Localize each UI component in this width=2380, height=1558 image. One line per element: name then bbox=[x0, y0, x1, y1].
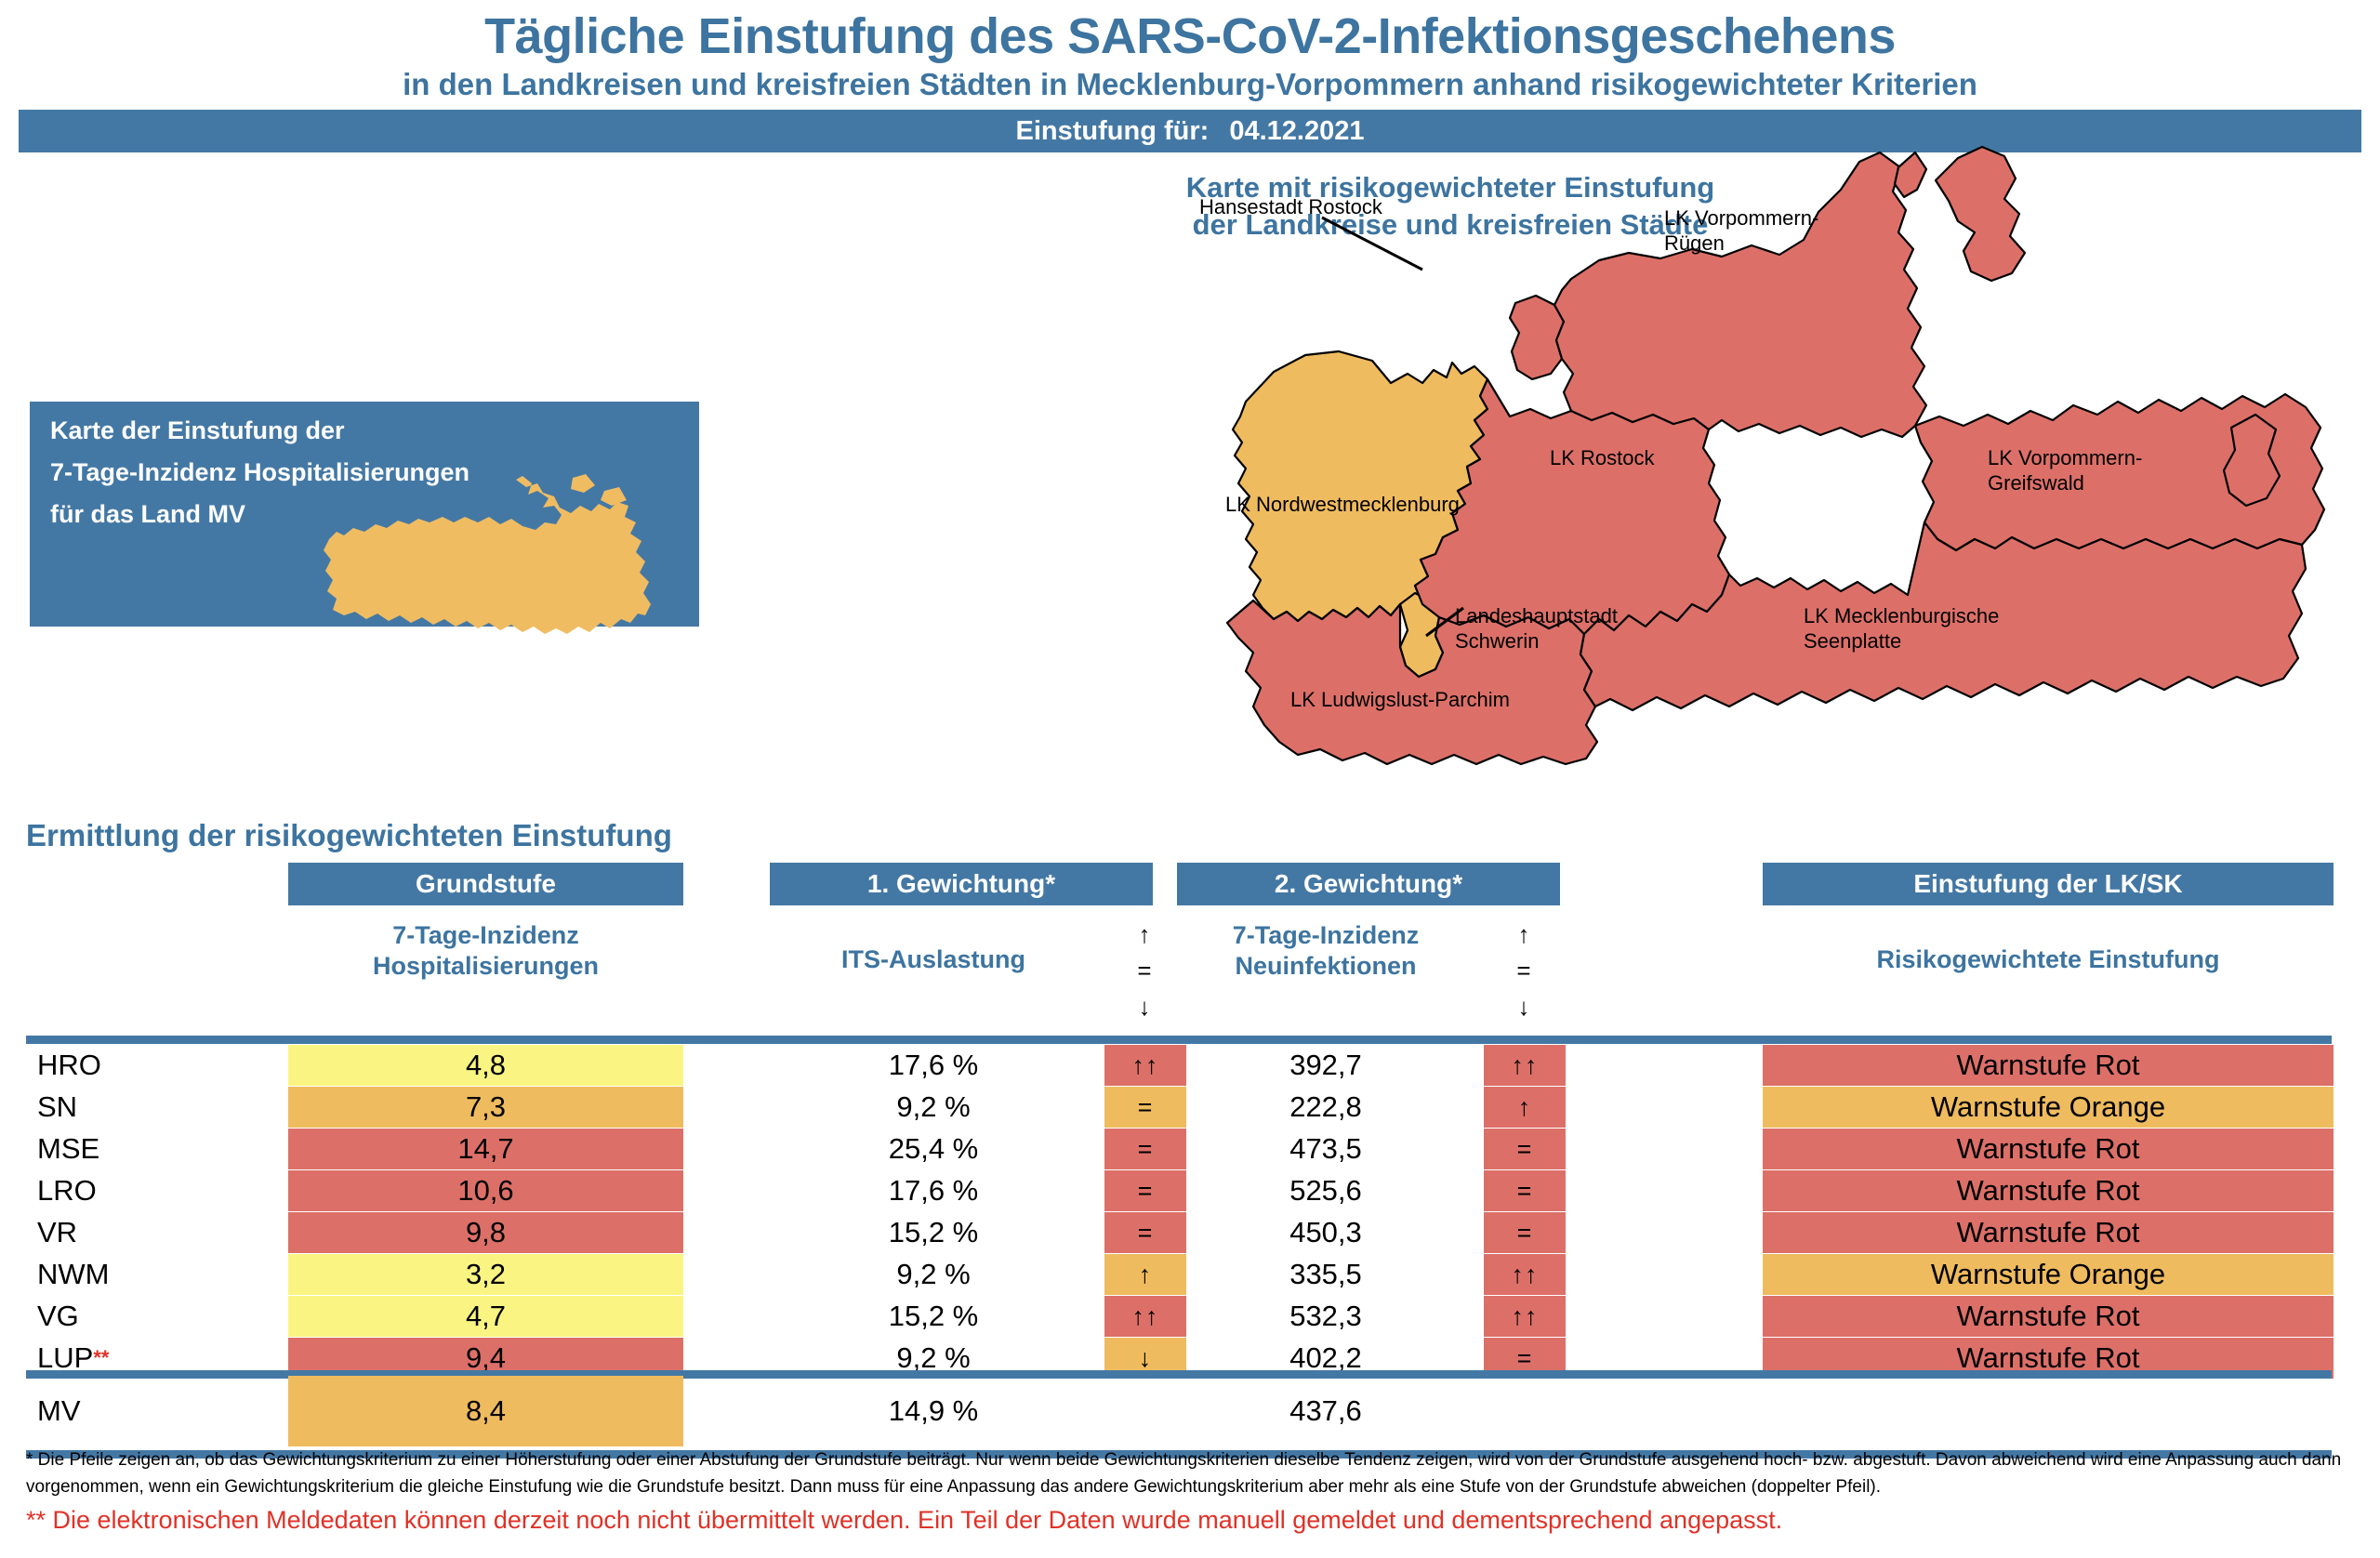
cell-hospitalisation-nwm: 3,2 bbox=[288, 1254, 683, 1295]
map-island-usedom bbox=[2224, 415, 2280, 506]
map-label-lk-mecklenburgische-seenplatte: LK MecklenburgischeSeenplatte bbox=[1804, 604, 1999, 654]
subheader-risikogewichtete-einstufung: Risikogewichtete Einstufung bbox=[1763, 944, 2334, 975]
footnote-single-star: * Die Pfeile zeigen an, ob das Gewichtun… bbox=[26, 1446, 2350, 1501]
cell-incidence-lro: 525,6 bbox=[1177, 1170, 1474, 1211]
row-code-vg: VG bbox=[37, 1296, 79, 1337]
date-label: Einstufung für: bbox=[1016, 116, 1210, 147]
mv-state-mini-map bbox=[279, 474, 669, 641]
cell-incidence-vg: 532,3 bbox=[1177, 1296, 1474, 1337]
classification-table: Grundstufe 1. Gewichtung* 2. Gewichtung*… bbox=[0, 863, 2380, 1439]
cell-warnstufe-mse: Warnstufe Rot bbox=[1763, 1129, 2334, 1169]
page-title: Tägliche Einstufung des SARS-CoV-2-Infek… bbox=[0, 7, 2380, 65]
map-label-lk-vorpommern-ruegen: LK Vorpommern-Rügen bbox=[1664, 206, 1818, 257]
cell-hospitalisation-hro: 4,8 bbox=[288, 1045, 683, 1086]
row-code-vr: VR bbox=[37, 1212, 77, 1253]
row-code-nwm: NWM bbox=[37, 1254, 109, 1295]
page-subtitle: in den Landkreisen und kreisfreien Städt… bbox=[0, 67, 2380, 102]
arrow-gewichtung2-mse: = bbox=[1484, 1129, 1566, 1169]
footnote-double-star: ** Die elektronischen Meldedaten können … bbox=[26, 1506, 2350, 1535]
leader-line-sn bbox=[1424, 604, 1471, 641]
arrow-gewichtung2-hro: ↑↑ bbox=[1484, 1045, 1566, 1086]
cell-warnstufe-nwm: Warnstufe Orange bbox=[1763, 1254, 2334, 1295]
arrow-gewichtung1-sn: = bbox=[1104, 1087, 1186, 1128]
cell-incidence-vr: 450,3 bbox=[1177, 1212, 1474, 1253]
subheader-its-auslastung: ITS-Auslastung bbox=[770, 944, 1097, 975]
summary-hospitalisation-value: 8,4 bbox=[288, 1376, 683, 1446]
cell-incidence-nwm: 335,5 bbox=[1177, 1254, 1474, 1295]
section-title: Ermittlung der risikogewichteten Einstuf… bbox=[26, 818, 672, 853]
cell-incidence-hro: 392,7 bbox=[1177, 1045, 1474, 1086]
map-label-landeshauptstadt-schwerin: LandeshauptstadtSchwerin bbox=[1455, 604, 1618, 654]
row-footnote-marker: ** bbox=[93, 1346, 109, 1370]
map-region-vr bbox=[1554, 152, 1926, 437]
cell-hospitalisation-vg: 4,7 bbox=[288, 1296, 683, 1337]
cell-its-vg: 15,2 % bbox=[770, 1296, 1097, 1337]
arrow-key-gewichtung-2: ↑=↓ bbox=[1482, 917, 1566, 1025]
cell-incidence-mse: 473,5 bbox=[1177, 1129, 1474, 1169]
cell-hospitalisation-vr: 9,8 bbox=[288, 1212, 683, 1253]
map-island-ruegen bbox=[1936, 147, 2025, 281]
cell-incidence-sn: 222,8 bbox=[1177, 1087, 1474, 1128]
cell-warnstufe-hro: Warnstufe Rot bbox=[1763, 1045, 2334, 1086]
subheader-neuinfektionen: 7-Tage-InzidenzNeuinfektionen bbox=[1177, 920, 1474, 982]
map-island-hiddensee bbox=[1895, 152, 1926, 197]
cell-hospitalisation-sn: 7,3 bbox=[288, 1087, 683, 1128]
cell-hospitalisation-mse: 14,7 bbox=[288, 1129, 683, 1169]
summary-incidence-value: 437,6 bbox=[1177, 1391, 1474, 1432]
row-code-hro: HRO bbox=[37, 1045, 101, 1086]
row-code-mse: MSE bbox=[37, 1129, 99, 1169]
cell-its-nwm: 9,2 % bbox=[770, 1254, 1097, 1295]
arrow-gewichtung2-lro: = bbox=[1484, 1170, 1566, 1211]
arrow-gewichtung1-vr: = bbox=[1104, 1212, 1186, 1253]
cell-warnstufe-vg: Warnstufe Rot bbox=[1763, 1296, 2334, 1337]
cell-warnstufe-sn: Warnstufe Orange bbox=[1763, 1087, 2334, 1128]
table-rule-top bbox=[26, 1036, 2332, 1044]
column-header-gewichtung-1: 1. Gewichtung* bbox=[770, 863, 1153, 905]
arrow-gewichtung2-nwm: ↑↑ bbox=[1484, 1254, 1566, 1295]
cell-hospitalisation-lro: 10,6 bbox=[288, 1170, 683, 1211]
row-code-lro: LRO bbox=[37, 1170, 97, 1211]
cell-its-lro: 17,6 % bbox=[770, 1170, 1097, 1211]
arrow-gewichtung2-vg: ↑↑ bbox=[1484, 1296, 1566, 1337]
arrow-gewichtung1-hro: ↑↑ bbox=[1104, 1045, 1186, 1086]
arrow-gewichtung2-vr: = bbox=[1484, 1212, 1566, 1253]
map-label-lk-rostock: LK Rostock bbox=[1550, 446, 1655, 471]
map-label-lk-nordwestmecklenburg: LK Nordwestmecklenburg bbox=[1225, 493, 1460, 518]
leader-line-hro bbox=[1320, 216, 1441, 281]
cell-its-sn: 9,2 % bbox=[770, 1087, 1097, 1128]
cell-warnstufe-lro: Warnstufe Rot bbox=[1763, 1170, 2334, 1211]
summary-row-code: MV bbox=[37, 1391, 81, 1432]
arrow-gewichtung1-mse: = bbox=[1104, 1129, 1186, 1169]
map-label-lk-ludwigslust-parchim: LK Ludwigslust-Parchim bbox=[1290, 688, 1510, 713]
arrow-gewichtung1-lro: = bbox=[1104, 1170, 1186, 1211]
map-label-lk-vorpommern-greifswald: LK Vorpommern-Greifswald bbox=[1988, 446, 2142, 496]
row-code-sn: SN bbox=[37, 1087, 77, 1128]
cell-warnstufe-vr: Warnstufe Rot bbox=[1763, 1212, 2334, 1253]
column-header-gewichtung-2: 2. Gewichtung* bbox=[1177, 863, 1560, 905]
summary-its-value: 14,9 % bbox=[770, 1391, 1097, 1432]
cell-its-vr: 15,2 % bbox=[770, 1212, 1097, 1253]
column-header-einstufung: Einstufung der LK/SK bbox=[1763, 863, 2334, 905]
arrow-gewichtung1-vg: ↑↑ bbox=[1104, 1296, 1186, 1337]
arrow-gewichtung2-sn: ↑ bbox=[1484, 1087, 1566, 1128]
info-box-line-1: Karte der Einstufung der bbox=[50, 402, 699, 445]
subheader-grundstufe: 7-Tage-InzidenzHospitalisierungen bbox=[288, 920, 683, 982]
cell-its-mse: 25,4 % bbox=[770, 1129, 1097, 1169]
cell-its-hro: 17,6 % bbox=[770, 1045, 1097, 1086]
arrow-gewichtung1-nwm: ↑ bbox=[1104, 1254, 1186, 1295]
risk-classification-map: Hansestadt Rostock LK Vorpommern-Rügen L… bbox=[1209, 139, 2380, 809]
column-header-grundstufe: Grundstufe bbox=[288, 863, 683, 905]
arrow-key-gewichtung-1: ↑=↓ bbox=[1103, 917, 1186, 1025]
